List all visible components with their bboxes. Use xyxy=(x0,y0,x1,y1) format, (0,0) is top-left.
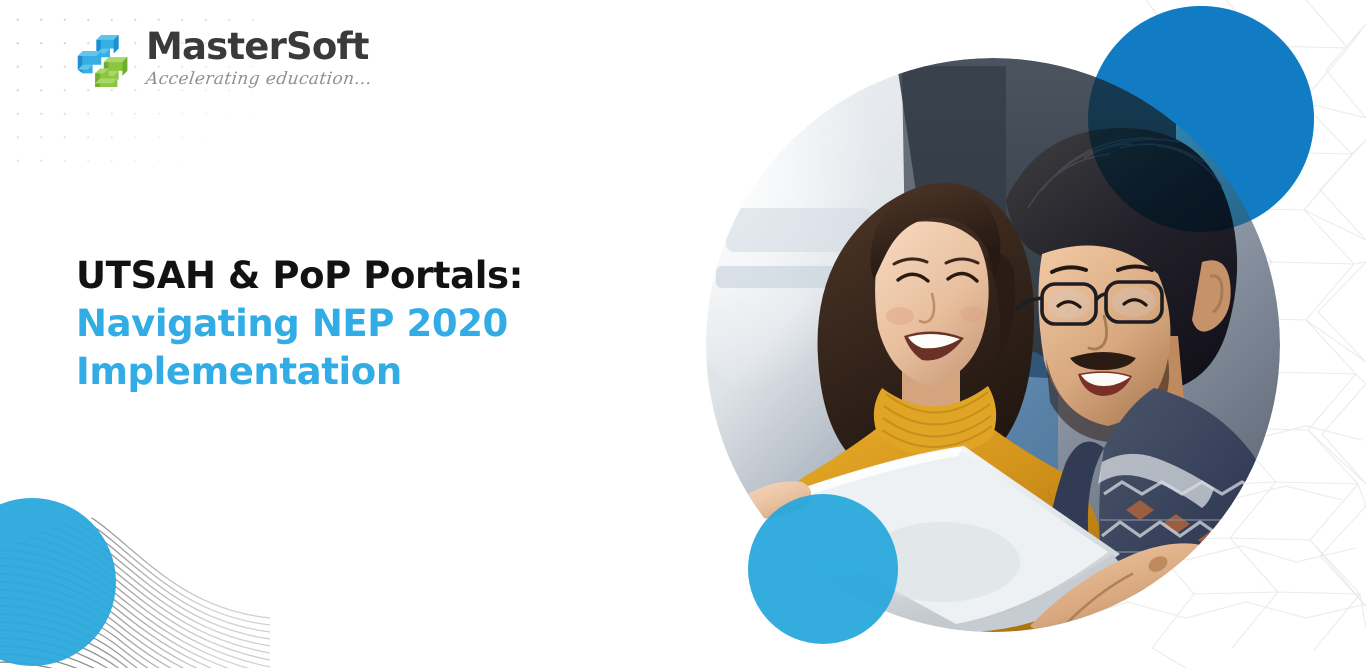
blue-circle-bottom-center xyxy=(748,494,898,644)
headline-line-3: Implementation xyxy=(76,348,636,396)
headline-line-1: UTSAH & PoP Portals: xyxy=(76,252,636,300)
blue-circle-bottom-left xyxy=(0,498,116,666)
logo-tagline: Accelerating education... xyxy=(145,69,373,89)
mastersoft-logo[interactable]: MasterSoft Accelerating education... xyxy=(74,28,376,92)
mastersoft-pinwheel-logo-icon xyxy=(74,30,136,92)
headline-line-2: Navigating NEP 2020 xyxy=(76,300,636,348)
headline-block: UTSAH & PoP Portals: Navigating NEP 2020… xyxy=(76,252,636,396)
marketing-banner: MasterSoft Accelerating education... UTS… xyxy=(0,0,1366,668)
logo-wordmark: MasterSoft xyxy=(146,28,376,67)
